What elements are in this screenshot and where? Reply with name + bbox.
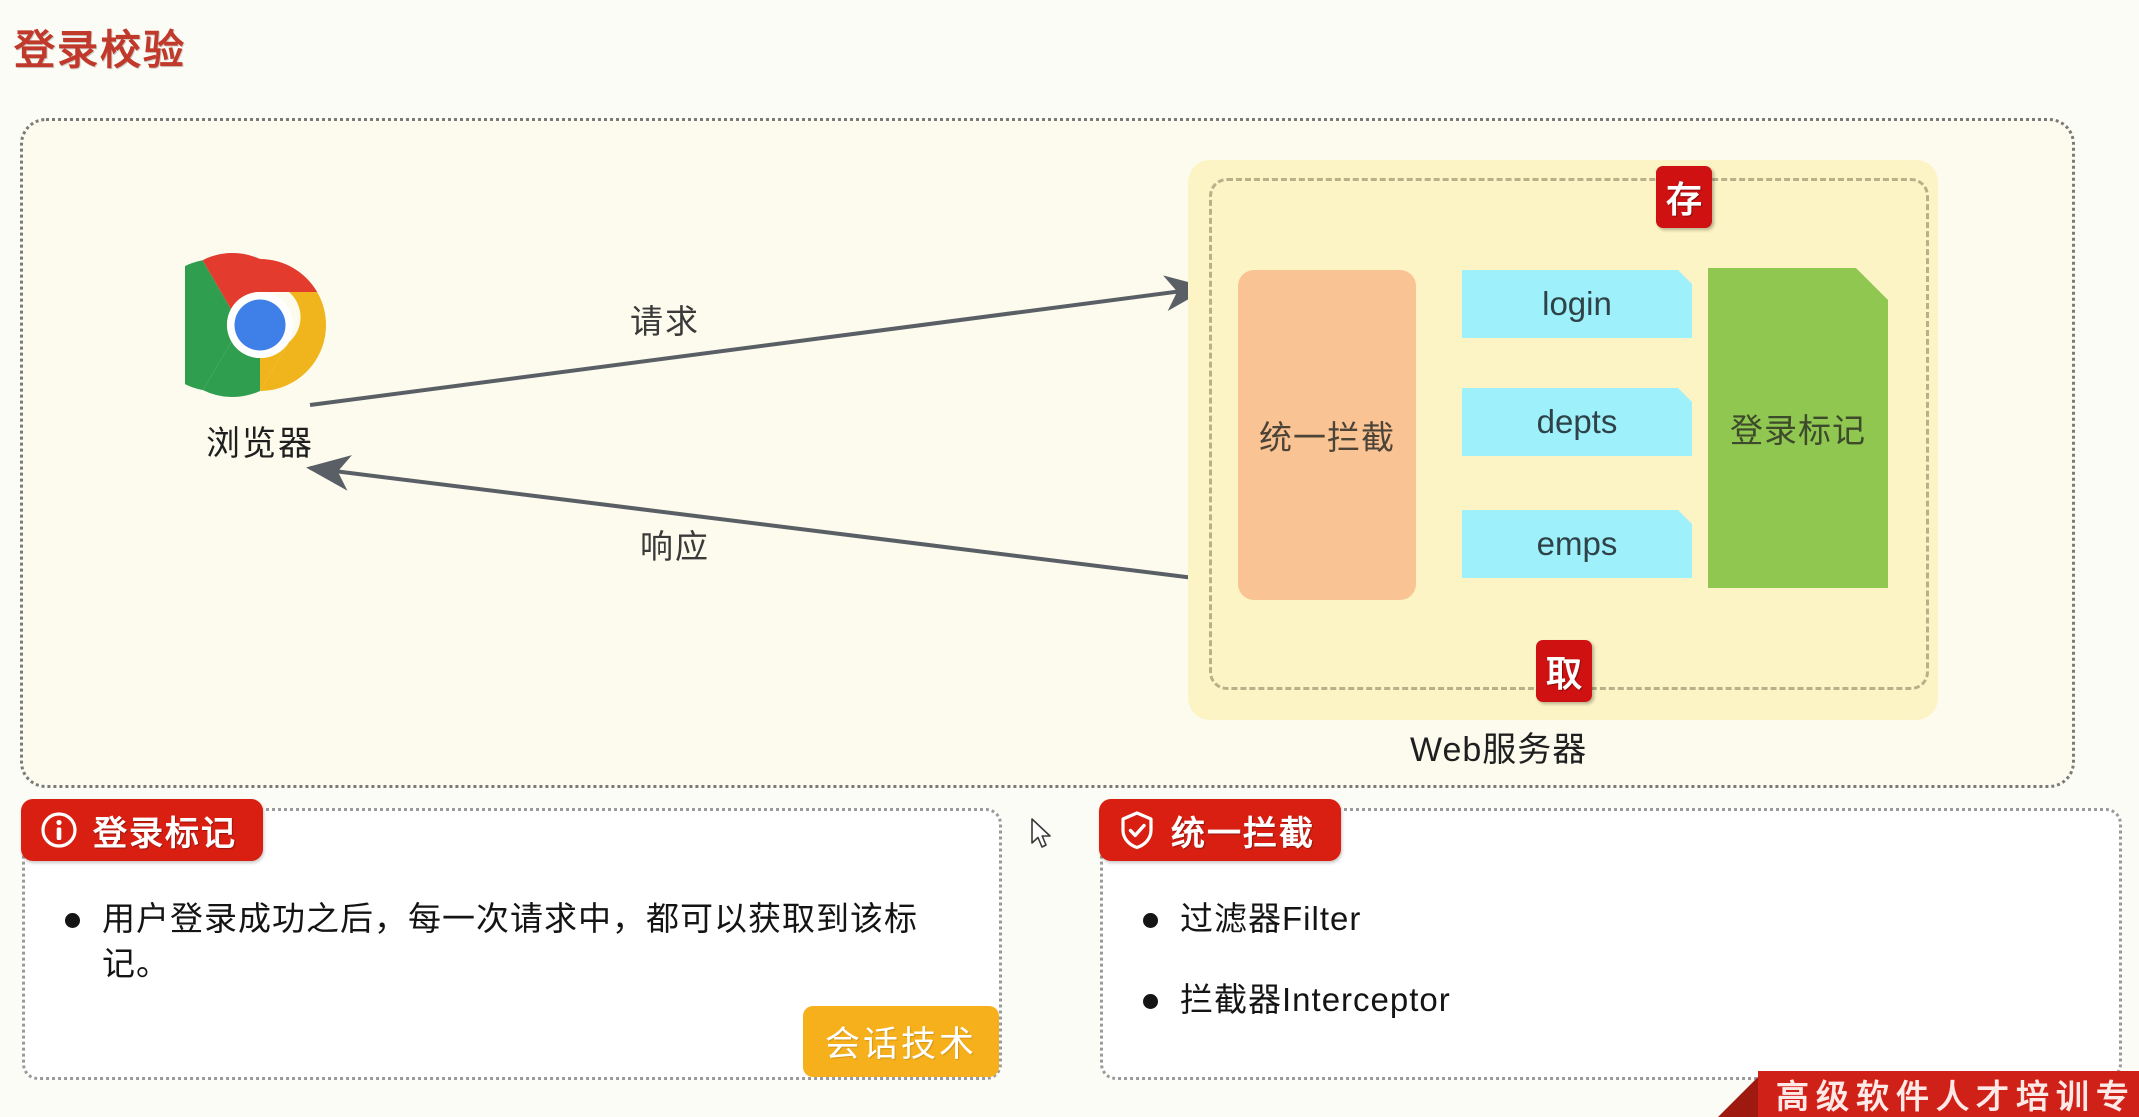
flow-label-request: 请求 [630, 295, 700, 343]
card-login-mark-badge: 登录标记 [21, 799, 263, 861]
interceptor-block: 统一拦截 [1238, 270, 1416, 600]
login-mark-store: 登录标记 [1708, 268, 1888, 588]
flow-label-response: 响应 [640, 520, 710, 568]
endpoint-emps-label: emps [1537, 525, 1618, 563]
endpoint-login: login [1462, 270, 1692, 338]
card-unified-intercept-badge: 统一拦截 [1099, 799, 1341, 861]
card-login-mark: 登录标记 用户登录成功之后，每一次请求中，都可以获取到该标记。 会话技术 [22, 808, 1002, 1080]
mouse-cursor [1030, 818, 1056, 852]
login-mark-store-label: 登录标记 [1730, 404, 1866, 452]
watermark-bar: 高级软件人才培训专 [1758, 1071, 2139, 1117]
watermark-banner: 高级软件人才培训专 [1718, 1071, 2139, 1117]
bullet-dot-icon [65, 913, 80, 928]
list-item: 用户登录成功之后，每一次请求中，都可以获取到该标记。 [65, 897, 969, 986]
list-item: 拦截器Interceptor [1143, 978, 2089, 1023]
bullet-text: 拦截器Interceptor [1180, 978, 1451, 1023]
card-unified-intercept: 统一拦截 过滤器Filter 拦截器Interceptor [1100, 808, 2122, 1080]
bullet-dot-icon [1143, 913, 1158, 928]
web-server-caption: Web服务器 [1410, 722, 1587, 771]
endpoint-emps: emps [1462, 510, 1692, 578]
page-title: 登录校验 [14, 16, 186, 76]
browser-node: 浏览器 [130, 250, 390, 465]
card-login-mark-badge-label: 登录标记 [93, 806, 237, 855]
curve-badge-take: 取 [1536, 640, 1592, 702]
card-unified-intercept-badge-label: 统一拦截 [1171, 806, 1315, 855]
slide-canvas: 登录校验 浏览器 [0, 0, 2139, 1117]
browser-label: 浏览器 [130, 416, 390, 465]
chrome-logo-icon [185, 250, 335, 400]
session-technology-tag: 会话技术 [803, 1006, 999, 1077]
bullet-text: 过滤器Filter [1180, 897, 1361, 942]
interceptor-label: 统一拦截 [1259, 411, 1395, 459]
shield-check-icon [1117, 810, 1157, 850]
bullet-dot-icon [1143, 994, 1158, 1009]
endpoint-depts: depts [1462, 388, 1692, 456]
card-unified-intercept-bullets: 过滤器Filter 拦截器Interceptor [1143, 897, 2089, 1058]
endpoint-login-label: login [1542, 285, 1612, 323]
watermark-text: 高级软件人才培训专 [1776, 1071, 2136, 1117]
endpoint-depts-label: depts [1537, 403, 1618, 441]
curve-badge-save: 存 [1656, 166, 1712, 228]
info-circle-icon [39, 810, 79, 850]
bullet-text: 用户登录成功之后，每一次请求中，都可以获取到该标记。 [102, 897, 969, 986]
list-item: 过滤器Filter [1143, 897, 2089, 942]
card-login-mark-bullets: 用户登录成功之后，每一次请求中，都可以获取到该标记。 [65, 897, 969, 1022]
